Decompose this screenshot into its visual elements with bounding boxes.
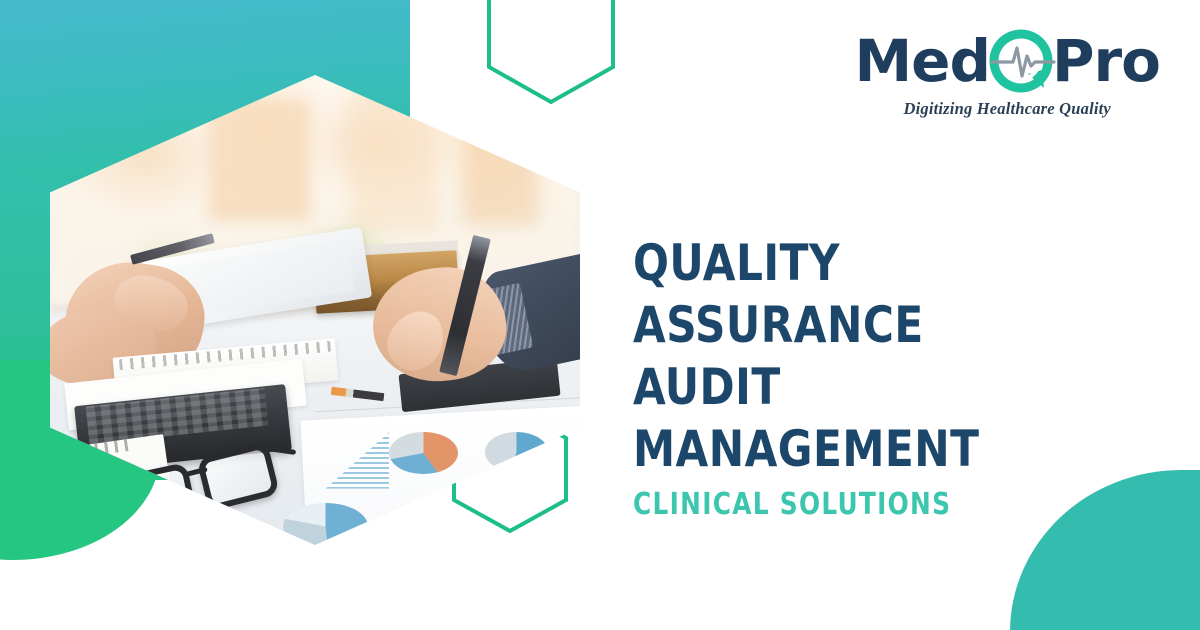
photo-eyeglasses-lens-right xyxy=(196,441,280,511)
headline-block: QUALITY ASSURANCE AUDIT MANAGEMENT xyxy=(633,232,1153,480)
medqpro-logo[interactable]: Med Pro Digitizing Healthcare Quality xyxy=(854,28,1160,119)
page-title: QUALITY ASSURANCE AUDIT MANAGEMENT xyxy=(633,232,1122,480)
logo-wordmark: Med Pro xyxy=(854,28,1160,94)
photo-bg-shape-1 xyxy=(209,99,310,221)
logo-text-pro: Pro xyxy=(1052,32,1160,90)
hexagon-outline-top-icon xyxy=(487,0,615,104)
photo-bg-shape-3 xyxy=(463,113,537,226)
bottom-right-teal-blob xyxy=(1010,470,1200,630)
logo-text-med: Med xyxy=(854,32,990,90)
promo-banner: Med Pro Digitizing Healthcare Quality QU… xyxy=(0,0,1200,630)
subtitle: CLINICAL SOLUTIONS xyxy=(633,487,951,522)
q-heartbeat-icon xyxy=(986,28,1056,94)
logo-tagline: Digitizing Healthcare Quality xyxy=(854,99,1160,119)
